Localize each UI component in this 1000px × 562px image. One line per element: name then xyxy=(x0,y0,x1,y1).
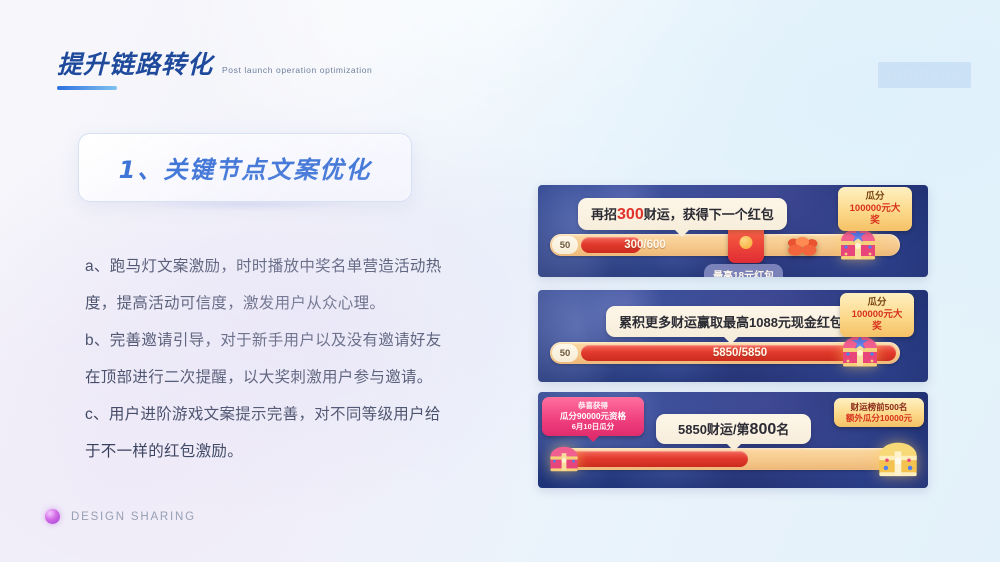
brand-logo: HUNDSUN xyxy=(878,62,971,88)
mockup-panel-1: 再招300财运，获得下一个红包 50 300/600 xyxy=(538,185,928,277)
panel3-center-number: 800 xyxy=(750,421,777,438)
brand-logo-text: HUNDSUN xyxy=(887,67,962,82)
panel1-chest-badge-line2: 100000元大奖 xyxy=(845,203,905,227)
panel1-chest-badge: 瓜分 100000元大奖 xyxy=(838,187,912,231)
panel2-chest-badge: 瓜分 100000元大奖 xyxy=(840,293,914,337)
panel3-left-badge-line3: 6月10日瓜分 xyxy=(549,422,637,432)
panel2-chest-badge-line2: 100000元大奖 xyxy=(847,309,907,333)
body-line: a、跑马灯文案激励，时时播放中奖名单营造活动热 xyxy=(85,248,485,285)
slide-canvas: 提升链路转化 Post launch operation optimizatio… xyxy=(0,0,1000,562)
mockup-panel-3: 恭喜获得 瓜分90000元资格 6月10日瓜分 5850财运/第800名 财运榜… xyxy=(538,392,928,488)
panel2-chest-badge-line1: 瓜分 xyxy=(847,297,907,309)
sphere-icon xyxy=(45,509,60,524)
panel2-tooltip: 累积更多财运赢取最高1088元现金红包 xyxy=(606,306,856,337)
panel3-progress-bar[interactable] xyxy=(554,448,912,470)
slide-header: 提升链路转化 Post launch operation optimizatio… xyxy=(57,52,372,77)
body-copy: a、跑马灯文案激励，时时播放中奖名单营造活动热 度，提高活动可信度，激发用户从众… xyxy=(85,248,485,470)
panel3-progress-fill xyxy=(562,451,748,467)
panel2-start-value: 50 xyxy=(552,344,578,362)
treasure-chest-icon-left[interactable] xyxy=(548,442,580,474)
slide-footer: DESIGN SHARING xyxy=(45,509,196,524)
panel1-tooltip: 再招300财运，获得下一个红包 xyxy=(578,198,787,230)
ingot-pile-icon xyxy=(786,232,820,258)
panel3-right-badge-line1: 财运榜前500名 xyxy=(841,402,917,413)
treasure-chest-icon-right[interactable] xyxy=(876,436,920,480)
panel1-progress-label: 300/600 xyxy=(590,239,700,251)
panel1-start-value: 50 xyxy=(552,236,578,254)
page-subtitle: Post launch operation optimization xyxy=(222,65,372,75)
panel1-reward-pill: 最高18元红包 xyxy=(704,264,783,277)
panel1-tooltip-prefix: 再招 xyxy=(591,207,617,222)
body-line: 在顶部进行二次提醒，以大奖刺激用户参与邀请。 xyxy=(85,359,485,396)
section-heading-text: 1、关键节点文案优化 xyxy=(119,150,372,185)
panel3-right-badge: 财运榜前500名 额外瓜分10000元 xyxy=(834,398,924,427)
body-line: 度，提高活动可信度，激发用户从众心理。 xyxy=(85,285,485,322)
panel1-tooltip-highlight: 300 xyxy=(617,206,644,223)
page-title: 提升链路转化 xyxy=(57,52,213,77)
panel1-chest-badge-line1: 瓜分 xyxy=(845,191,905,203)
panel1-tooltip-suffix: 财运，获得下一个红包 xyxy=(644,207,774,222)
body-line: 于不一样的红包激励。 xyxy=(85,433,485,470)
title-underline xyxy=(57,86,117,90)
panel3-center-prefix: 5850财运/第 xyxy=(678,422,750,437)
panel3-left-badge: 恭喜获得 瓜分90000元资格 6月10日瓜分 xyxy=(542,397,644,436)
section-heading-card: 1、关键节点文案优化 xyxy=(78,133,412,202)
body-line: b、完善邀请引导，对于新手用户以及没有邀请好友 xyxy=(85,322,485,359)
mockup-panel-2: 累积更多财运赢取最高1088元现金红包 50 5850/5850 瓜 xyxy=(538,290,928,382)
panel3-right-badge-line2: 额外瓜分10000元 xyxy=(841,413,917,424)
panel3-center-label: 5850财运/第800名 xyxy=(656,414,811,444)
body-line: c、用户进阶游戏文案提示完善，对不同等级用户给 xyxy=(85,396,485,433)
panel3-center-suffix: 名 xyxy=(776,422,789,437)
footer-label: DESIGN SHARING xyxy=(71,511,196,523)
panel3-left-badge-line1: 恭喜获得 xyxy=(549,401,637,411)
panel3-left-badge-line2: 瓜分90000元资格 xyxy=(549,411,637,422)
